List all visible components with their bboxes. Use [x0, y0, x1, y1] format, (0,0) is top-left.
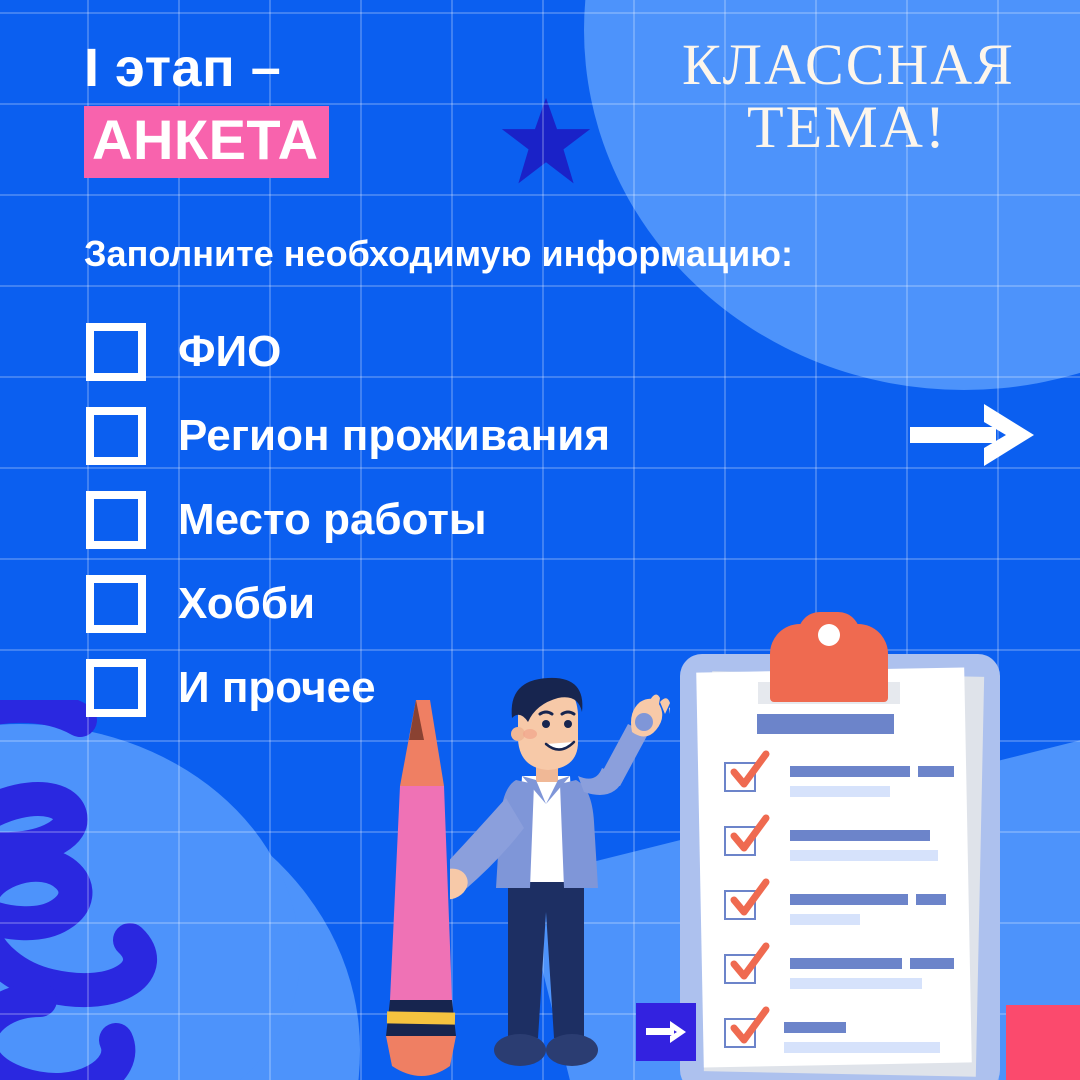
page-title: I этап – АНКЕТА — [84, 40, 329, 178]
clipboard-text-line — [790, 914, 860, 925]
poster-canvas: I этап – АНКЕТА КЛАССНАЯ ТЕМА! Заполните… — [0, 0, 1080, 1080]
clipboard-text-line — [790, 786, 890, 797]
bottom-right-red-block-decoration — [1006, 1005, 1080, 1080]
clipboard-text-line — [790, 830, 930, 841]
list-item[interactable]: Регион проживания — [86, 394, 610, 478]
stage-line: I этап – — [84, 40, 329, 97]
list-item[interactable]: ФИО — [86, 310, 610, 394]
checkbox-icon[interactable] — [86, 323, 146, 381]
table-row — [724, 886, 964, 950]
clipboard-text-line — [918, 766, 954, 777]
list-item-label: Регион проживания — [178, 411, 610, 461]
check-icon — [726, 942, 772, 988]
logo-line-1-text: КЛАССНАЯ — [682, 32, 1015, 97]
list-item-label: И прочее — [178, 663, 376, 713]
arrow-right-icon[interactable] — [910, 404, 1034, 466]
clipboard-text-line — [790, 958, 902, 969]
clipboard-icon — [658, 612, 1010, 1080]
list-item[interactable]: И прочее — [86, 646, 610, 730]
check-icon — [726, 878, 772, 924]
list-item[interactable]: Место работы — [86, 478, 610, 562]
clipboard-text-line — [916, 894, 946, 905]
checkbox-icon[interactable] — [86, 659, 146, 717]
status-badge: АНКЕТА — [84, 106, 329, 178]
logo-line-1: КЛАССНАЯ — [682, 36, 1012, 94]
next-page-button[interactable] — [636, 1003, 696, 1061]
check-icon — [726, 1006, 772, 1052]
logo-line-2: ТЕМА! — [682, 96, 1012, 159]
clipboard-text-line — [790, 766, 910, 777]
star-icon — [500, 96, 592, 188]
checkbox-icon[interactable] — [86, 491, 146, 549]
instruction-text: Заполните необходимую информацию: — [84, 233, 793, 275]
checklist: ФИО Регион проживания Место работы Хобби… — [86, 310, 610, 730]
clipboard-text-line — [784, 1042, 940, 1053]
checkbox-icon[interactable] — [86, 407, 146, 465]
arrow-right-icon — [646, 1021, 686, 1043]
clipboard-text-line — [790, 978, 922, 989]
brand-logo: КЛАССНАЯ ТЕМА! — [682, 36, 1012, 159]
clipboard-text-line — [784, 1022, 846, 1033]
clipboard-text-line — [790, 894, 908, 905]
check-icon — [726, 814, 772, 860]
logo-line-2-text: ТЕМА! — [747, 94, 947, 160]
checkbox-icon[interactable] — [86, 575, 146, 633]
check-icon — [726, 750, 772, 796]
squiggle-decoration-icon — [0, 700, 290, 1080]
list-item-label: Место работы — [178, 495, 487, 545]
clipboard-text-line — [910, 958, 954, 969]
list-item-label: ФИО — [178, 327, 281, 377]
clipboard-text-line — [790, 850, 938, 861]
clipboard-clip-hole — [818, 624, 840, 646]
table-row — [724, 1014, 964, 1078]
clipboard-rows — [724, 758, 964, 1078]
list-item-label: Хобби — [178, 579, 315, 629]
list-item[interactable]: Хобби — [86, 562, 610, 646]
table-row — [724, 950, 964, 1014]
table-row — [724, 758, 964, 822]
table-row — [724, 822, 964, 886]
clipboard-title-bar — [757, 714, 894, 734]
